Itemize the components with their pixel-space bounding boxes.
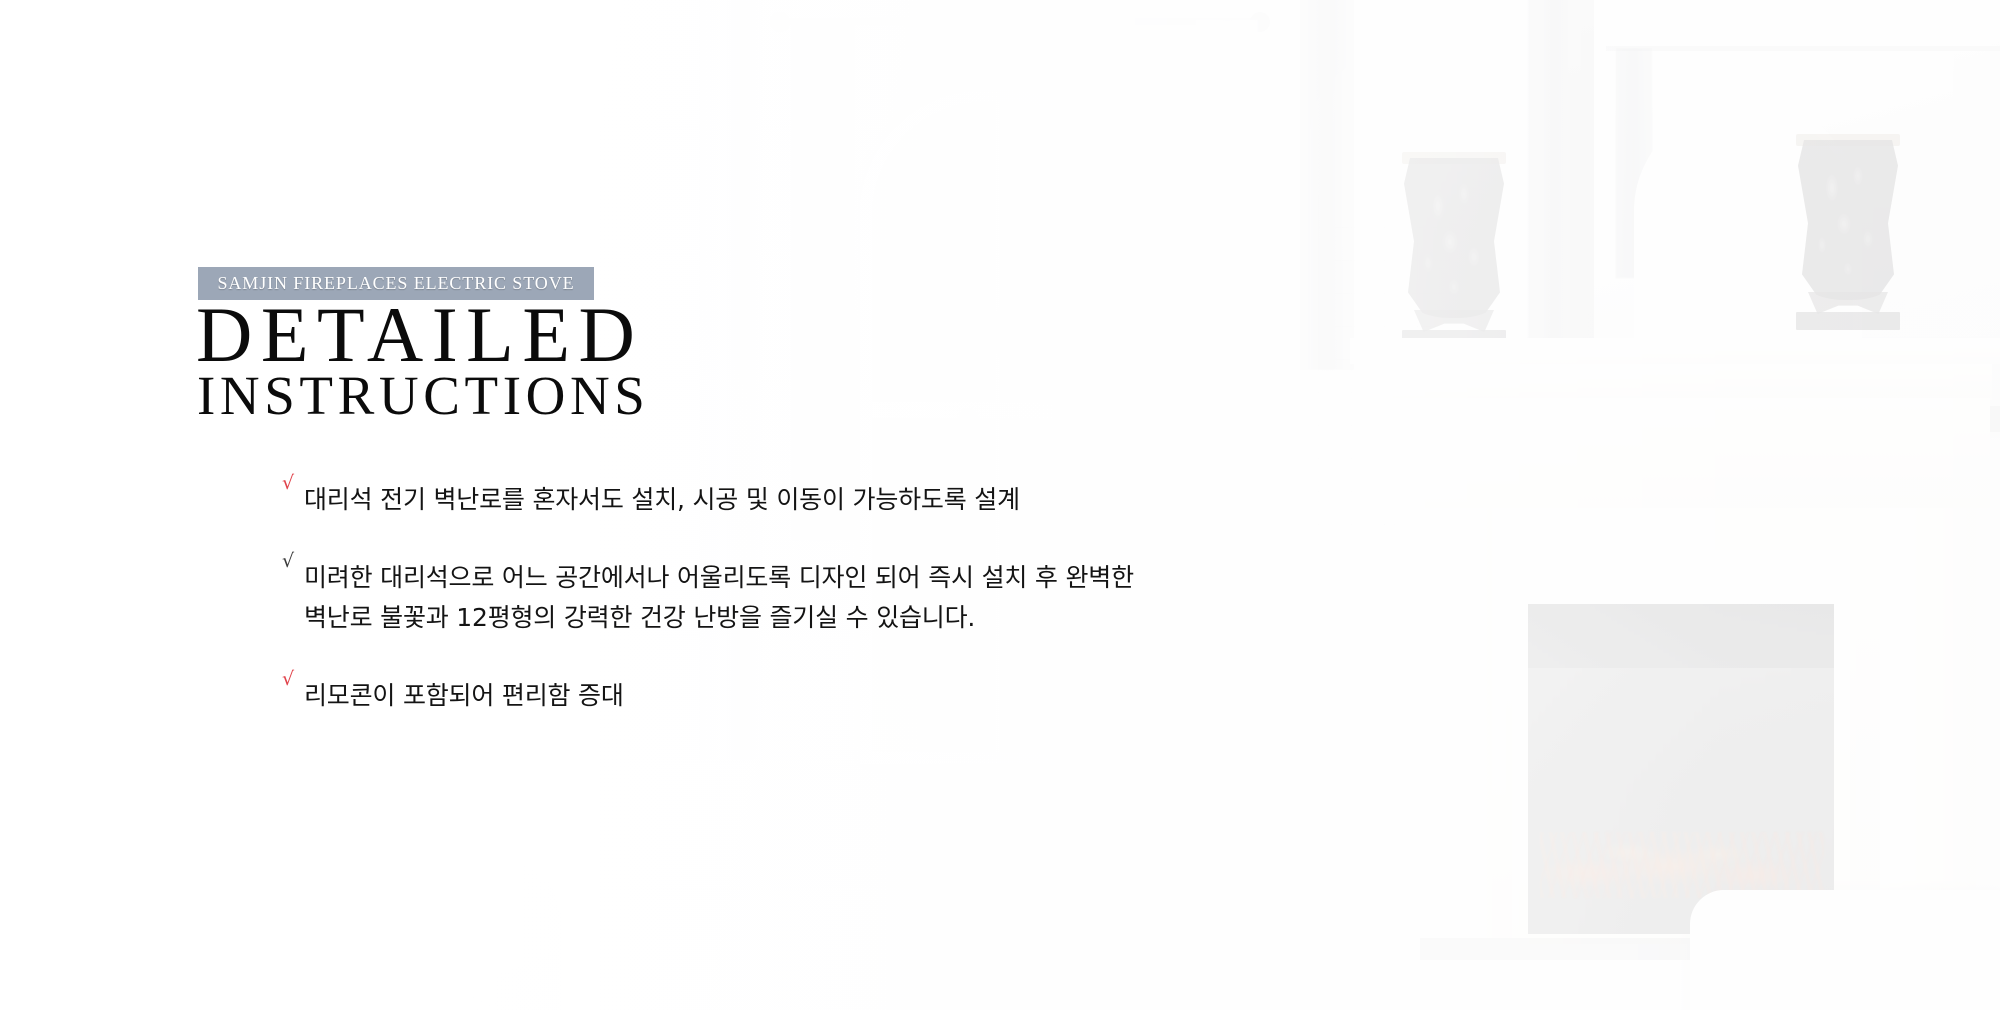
page-title-line-1: DETAILED: [196, 296, 643, 374]
check-mark-icon: √: [282, 552, 304, 571]
list-item: √ 대리석 전기 벽난로를 혼자서도 설치, 시공 및 이동이 가능하도록 설계: [282, 480, 1362, 520]
list-item: √ 리모콘이 포함되어 편리함 증대: [282, 676, 1362, 716]
page-title-line-2: INSTRUCTIONS: [197, 368, 649, 423]
list-item: √ 미려한 대리석으로 어느 공간에서나 어울리도록 디자인 되어 즉시 설치 …: [282, 558, 1362, 638]
check-mark-icon: √: [282, 670, 304, 689]
list-item-text: 리모콘이 포함되어 편리함 증대: [304, 676, 624, 716]
check-mark-icon: √: [282, 474, 304, 493]
slide-canvas: SAMJIN FIREPLACES ELECTRIC STOVE DETAILE…: [0, 0, 2000, 1010]
list-item-text: 대리석 전기 벽난로를 혼자서도 설치, 시공 및 이동이 가능하도록 설계: [304, 480, 1020, 520]
bullet-list: √ 대리석 전기 벽난로를 혼자서도 설치, 시공 및 이동이 가능하도록 설계…: [282, 480, 1362, 716]
list-item-text: 미려한 대리석으로 어느 공간에서나 어울리도록 디자인 되어 즉시 설치 후 …: [304, 558, 1134, 638]
slide-content: SAMJIN FIREPLACES ELECTRIC STOVE DETAILE…: [0, 0, 2000, 1010]
